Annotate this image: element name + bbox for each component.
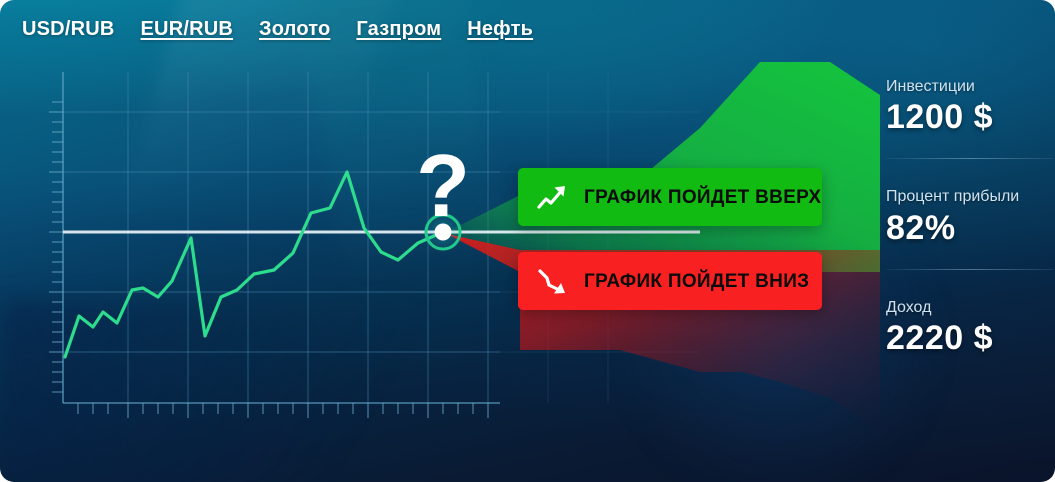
x-axis-ticks (78, 403, 488, 418)
stat-income-value: 2220 $ (886, 319, 1055, 357)
y-axis-ticks (49, 102, 63, 392)
stat-profit-percent: Процент прибыли 82% (886, 158, 1055, 246)
stat-investment-value: 1200 $ (886, 98, 1055, 136)
instrument-nav: USD/RUB EUR/RUB Золото Газпром Нефть (0, 0, 1055, 58)
stats-sidebar: Инвестиции 1200 $ Процент прибыли 82% До… (868, 0, 1055, 482)
forecast-down-label: ГРАФИК ПОЙДЕТ ВНИЗ (584, 272, 809, 291)
arrow-down-trend-icon (536, 264, 570, 298)
stat-profit-percent-value: 82% (886, 209, 1055, 247)
forecast-up-button[interactable]: ГРАФИК ПОЙДЕТ ВВЕРХ (518, 168, 822, 226)
stat-investment-caption: Инвестиции (886, 78, 1055, 96)
arrow-up-trend-icon (536, 180, 570, 214)
forecast-up-label: ГРАФИК ПОЙДЕТ ВВЕРХ (584, 188, 821, 207)
trading-widget: ? USD/RUB EUR/RUB Золото Газпром Нефть Г… (0, 0, 1055, 482)
price-line-series (65, 172, 443, 357)
stat-income: Доход 2220 $ (886, 269, 1055, 357)
stat-investment: Инвестиции 1200 $ (886, 78, 1055, 136)
nav-item-gold[interactable]: Золото (259, 18, 330, 41)
forecast-down-button[interactable]: ГРАФИК ПОЙДЕТ ВНИЗ (518, 252, 822, 310)
nav-item-oil[interactable]: Нефть (467, 18, 533, 41)
question-mark-annotation: ? (416, 136, 470, 235)
forecast-buttons: ГРАФИК ПОЙДЕТ ВВЕРХ ГРАФИК ПОЙДЕТ ВНИЗ (518, 168, 822, 310)
nav-item-eur-rub[interactable]: EUR/RUB (141, 18, 234, 41)
stat-income-caption: Доход (886, 299, 1055, 317)
nav-item-usd-rub[interactable]: USD/RUB (22, 18, 115, 41)
stat-profit-percent-caption: Процент прибыли (886, 188, 1055, 206)
nav-item-gazprom[interactable]: Газпром (356, 18, 441, 41)
